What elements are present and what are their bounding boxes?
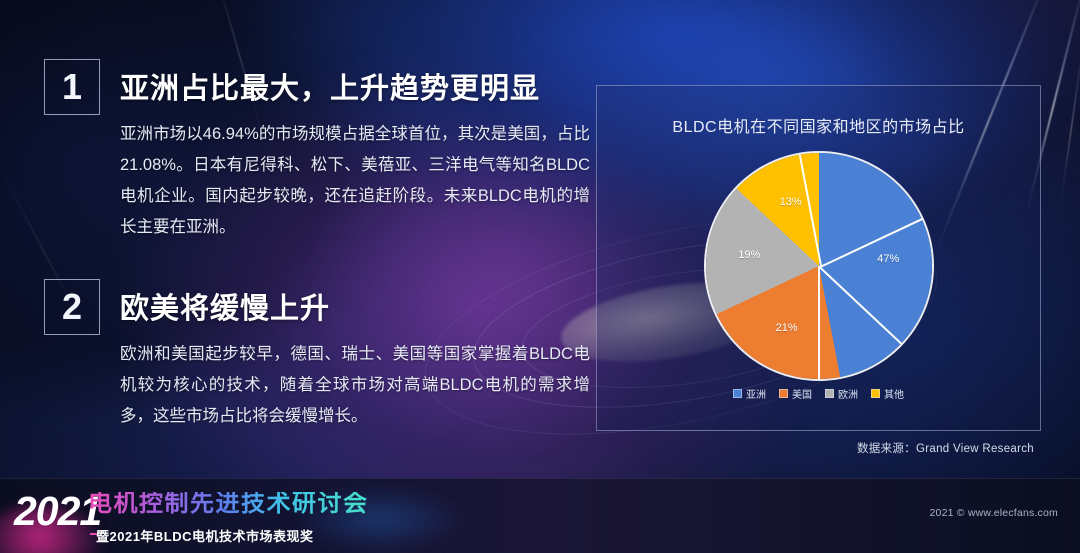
section-two-number: 2 <box>62 289 82 325</box>
section-one-heading: 亚洲占比最大，上升趋势更明显 <box>120 65 540 107</box>
legend-label: 欧洲 <box>838 386 858 401</box>
section-two-body: 欧洲和美国起步较早，德国、瑞士、美国等国家掌握着BLDC电机较为核心的技术，随着… <box>120 339 590 432</box>
pie-slice-divider <box>818 266 820 379</box>
pie-slice-label-亚洲: 47% <box>877 253 899 265</box>
chart-title: BLDC电机在不同国家和地区的市场占比 <box>597 113 1040 137</box>
section-two-heading: 欧美将缓慢上升 <box>120 285 330 327</box>
legend-item-美国[interactable]: 美国 <box>779 386 812 401</box>
pie-slice-label-欧洲: 19% <box>738 249 760 261</box>
legend-item-亚洲[interactable]: 亚洲 <box>733 386 766 401</box>
footer-credit: 2021 © www.elecfans.com <box>930 507 1058 519</box>
legend-swatch-icon <box>825 389 834 398</box>
legend-label: 美国 <box>792 386 812 401</box>
legend-swatch-icon <box>779 389 788 398</box>
section-one-number: 1 <box>62 69 82 105</box>
section-one-number-box: 1 <box>44 59 100 115</box>
legend-swatch-icon <box>733 389 742 398</box>
section-one-body: 亚洲市场以46.94%的市场规模占据全球首位，其次是美国，占比21.08%。日本… <box>120 119 590 243</box>
bottom-bar-conference-title: 电机控制先进技术研讨会 <box>88 492 369 516</box>
section-two-number-box: 2 <box>44 279 100 335</box>
chart-legend: 亚洲美国欧洲其他 <box>597 386 1040 401</box>
content-column: 1 亚洲占比最大，上升趋势更明显 亚洲市场以46.94%的市场规模占据全球首位，… <box>0 0 600 470</box>
chart-source-note: 数据来源：Grand View Research <box>857 440 1034 456</box>
legend-swatch-icon <box>871 389 880 398</box>
pie-chart: 47%21%19%13% <box>706 153 932 379</box>
pie-slice-label-美国: 21% <box>776 322 798 334</box>
legend-item-欧洲[interactable]: 欧洲 <box>825 386 858 401</box>
legend-label: 亚洲 <box>746 386 766 401</box>
legend-label: 其他 <box>884 386 904 401</box>
slide-root: 1 亚洲占比最大，上升趋势更明显 亚洲市场以46.94%的市场规模占据全球首位，… <box>0 0 1080 553</box>
chart-panel: BLDC电机在不同国家和地区的市场占比 47%21%19%13% 亚洲美国欧洲其… <box>596 85 1041 431</box>
legend-item-其他[interactable]: 其他 <box>871 386 904 401</box>
bottom-bar-conference-subtitle: 暨2021年BLDC电机技术市场表现奖 <box>96 526 314 545</box>
pie-slice-label-其他: 13% <box>780 196 802 208</box>
bottom-bar: 2021 电机控制先进技术研讨会 暨2021年BLDC电机技术市场表现奖 202… <box>0 478 1080 553</box>
